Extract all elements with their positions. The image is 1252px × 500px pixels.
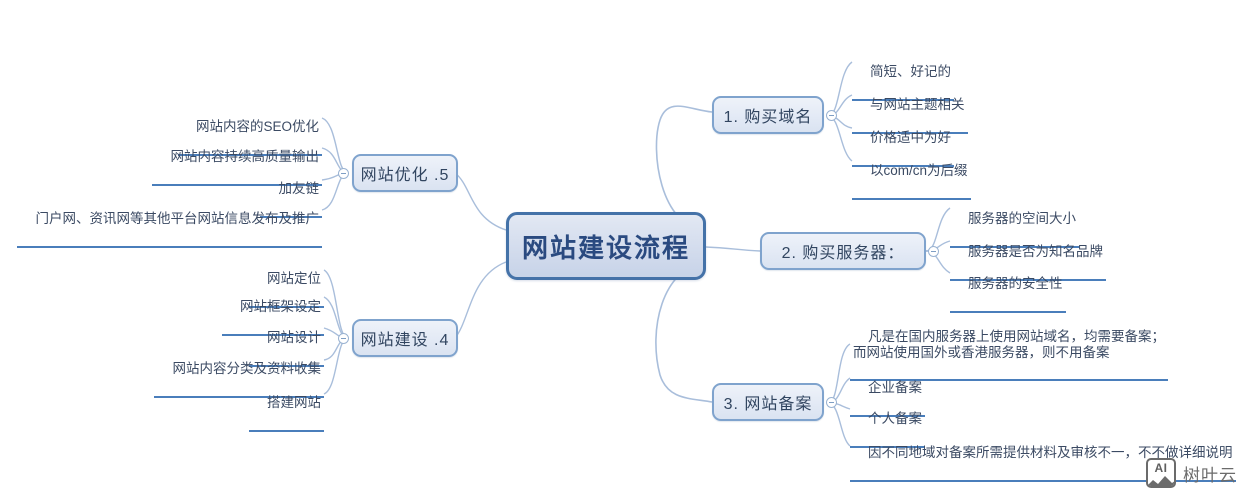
central-node[interactable]: 网站建设流程 bbox=[506, 212, 706, 280]
collapse-toggle-branch-5[interactable] bbox=[338, 168, 349, 179]
branch-node-website-filing[interactable]: 3. 网站备案 bbox=[712, 383, 824, 421]
watermark-text: 树叶云 bbox=[1183, 461, 1237, 486]
ai-badge-label: AI bbox=[1148, 461, 1174, 475]
branch-node-purchase-domain[interactable]: 1. 购买域名 bbox=[712, 96, 824, 134]
leaf-item[interactable]: 服务器的安全性 bbox=[950, 258, 1066, 313]
leaf-label: 服务器的空间大小 bbox=[968, 211, 1076, 226]
leaf-label: 简短、好记的 bbox=[870, 64, 951, 79]
leaf-item[interactable]: 以com/cn为后缀 bbox=[852, 145, 971, 200]
branch-node-label: 网站建设 .4 bbox=[361, 326, 450, 350]
leaf-label: 网站内容持续高质量输出 bbox=[171, 149, 320, 164]
leaf-label: 价格适中为好 bbox=[870, 130, 951, 145]
central-node-label: 网站建设流程 bbox=[522, 228, 690, 265]
leaf-label: 个人备案 bbox=[868, 411, 922, 426]
mountain-icon bbox=[1146, 476, 1176, 487]
leaf-label: 服务器是否为知名品牌 bbox=[968, 244, 1103, 259]
mindmap-canvas: 网站建设流程 1. 购买域名 简短、好记的 与网站主题相关 价格适中为好 以co… bbox=[0, 0, 1252, 500]
leaf-label: 搭建网站 bbox=[267, 395, 321, 410]
collapse-toggle-branch-4[interactable] bbox=[338, 333, 349, 344]
collapse-toggle-branch-1[interactable] bbox=[826, 110, 837, 121]
branch-node-website-optimization[interactable]: 网站优化 .5 bbox=[352, 154, 458, 192]
leaf-item[interactable]: 搭建网站 bbox=[249, 377, 324, 432]
leaf-label: 与网站主题相关 bbox=[870, 97, 965, 112]
leaf-label: 门户网、资讯网等其他平台网站信息发布及推广 bbox=[36, 211, 320, 226]
leaf-label: 凡是在国内服务器上使用网站域名，均需要备案； 而网站使用国外或香港服务器，则不用… bbox=[853, 329, 1165, 360]
branch-node-label: 2. 购买服务器： bbox=[782, 239, 905, 263]
collapse-toggle-branch-3[interactable] bbox=[826, 397, 837, 408]
branch-node-label: 1. 购买域名 bbox=[724, 103, 813, 127]
leaf-item[interactable]: 门户网、资讯网等其他平台网站信息发布及推广 bbox=[17, 193, 322, 248]
branch-node-website-construction[interactable]: 网站建设 .4 bbox=[352, 319, 458, 357]
ai-badge-icon: AI bbox=[1146, 458, 1176, 488]
leaf-label: 服务器的安全性 bbox=[968, 276, 1063, 291]
leaf-label: 以com/cn为后缀 bbox=[870, 163, 968, 178]
branch-node-label: 网站优化 .5 bbox=[361, 161, 450, 185]
branch-node-label: 3. 网站备案 bbox=[724, 390, 813, 414]
branch-node-purchase-server[interactable]: 2. 购买服务器： bbox=[760, 232, 926, 270]
watermark: AI 树叶云 bbox=[1146, 458, 1237, 488]
collapse-toggle-branch-2[interactable] bbox=[928, 246, 939, 257]
leaf-label: 网站内容分类及资料收集 bbox=[173, 361, 322, 376]
